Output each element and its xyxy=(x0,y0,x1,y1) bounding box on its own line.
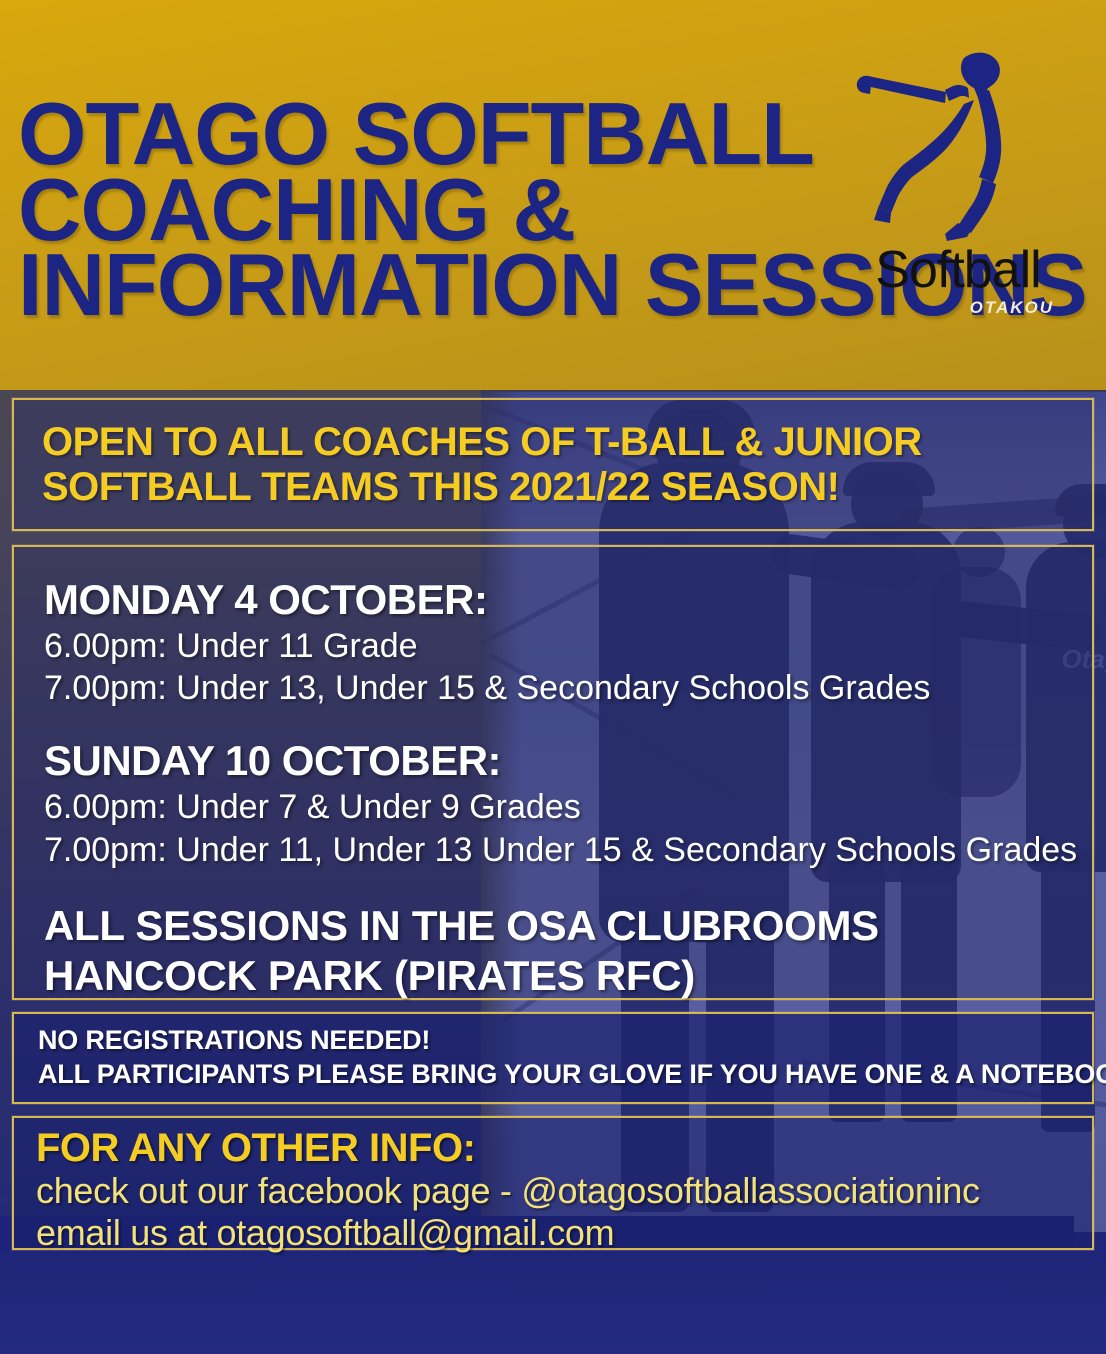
notes-line-2: ALL PARTICIPANTS PLEASE BRING YOUR GLOVE… xyxy=(38,1058,1092,1092)
schedule-slot: 7.00pm: Under 11, Under 13 Under 15 & Se… xyxy=(44,829,1092,872)
poster-root: Otago OTAGO SOFTBALL COACHING & INFORMAT… xyxy=(0,0,1106,1354)
contact-section: FOR ANY OTHER INFO: check out our facebo… xyxy=(12,1116,1094,1250)
contact-content: FOR ANY OTHER INFO: check out our facebo… xyxy=(14,1118,1092,1254)
schedule-slot: 6.00pm: Under 11 Grade xyxy=(44,625,1092,668)
venue-line-2: HANCOCK PARK (PIRATES RFC) xyxy=(44,951,1092,1001)
notes-content: NO REGISTRATIONS NEEDED! ALL PARTICIPANT… xyxy=(14,1014,1092,1092)
venue-line-1: ALL SESSIONS IN THE OSA CLUBROOMS xyxy=(44,901,1092,951)
facebook-link[interactable]: check out our facebook page - @otagosoft… xyxy=(36,1170,1092,1212)
schedule-content: MONDAY 4 OCTOBER: 6.00pm: Under 11 Grade… xyxy=(14,547,1092,1001)
schedule-slot: 7.00pm: Under 13, Under 15 & Secondary S… xyxy=(44,667,1092,710)
schedule-spacer xyxy=(44,710,1092,736)
notes-line-1: NO REGISTRATIONS NEEDED! xyxy=(38,1024,1092,1058)
banner-line-1: OPEN TO ALL COACHES OF T-BALL & JUNIOR xyxy=(42,420,1092,465)
schedule-slot: 6.00pm: Under 7 & Under 9 Grades xyxy=(44,786,1092,829)
banner-text: OPEN TO ALL COACHES OF T-BALL & JUNIOR S… xyxy=(14,400,1092,510)
schedule-day-heading: SUNDAY 10 OCTOBER: xyxy=(44,736,1092,786)
logo-subtext: OTAKOU xyxy=(844,298,1072,318)
schedule-day-heading: MONDAY 4 OCTOBER: xyxy=(44,575,1092,625)
email-link[interactable]: email us at otagosoftball@gmail.com xyxy=(36,1212,1092,1254)
contact-heading: FOR ANY OTHER INFO: xyxy=(36,1126,1092,1170)
open-to-all-banner: OPEN TO ALL COACHES OF T-BALL & JUNIOR S… xyxy=(12,398,1094,531)
banner-line-2: SOFTBALL TEAMS THIS 2021/22 SEASON! xyxy=(42,465,1092,510)
batter-silhouette-icon xyxy=(846,48,1076,248)
schedule-section: MONDAY 4 OCTOBER: 6.00pm: Under 11 Grade… xyxy=(12,545,1094,1000)
notes-section: NO REGISTRATIONS NEEDED! ALL PARTICIPANT… xyxy=(12,1012,1094,1104)
logo-wordmark: Softball xyxy=(844,244,1072,296)
otago-softball-logo: Softball OTAKOU xyxy=(836,48,1076,310)
